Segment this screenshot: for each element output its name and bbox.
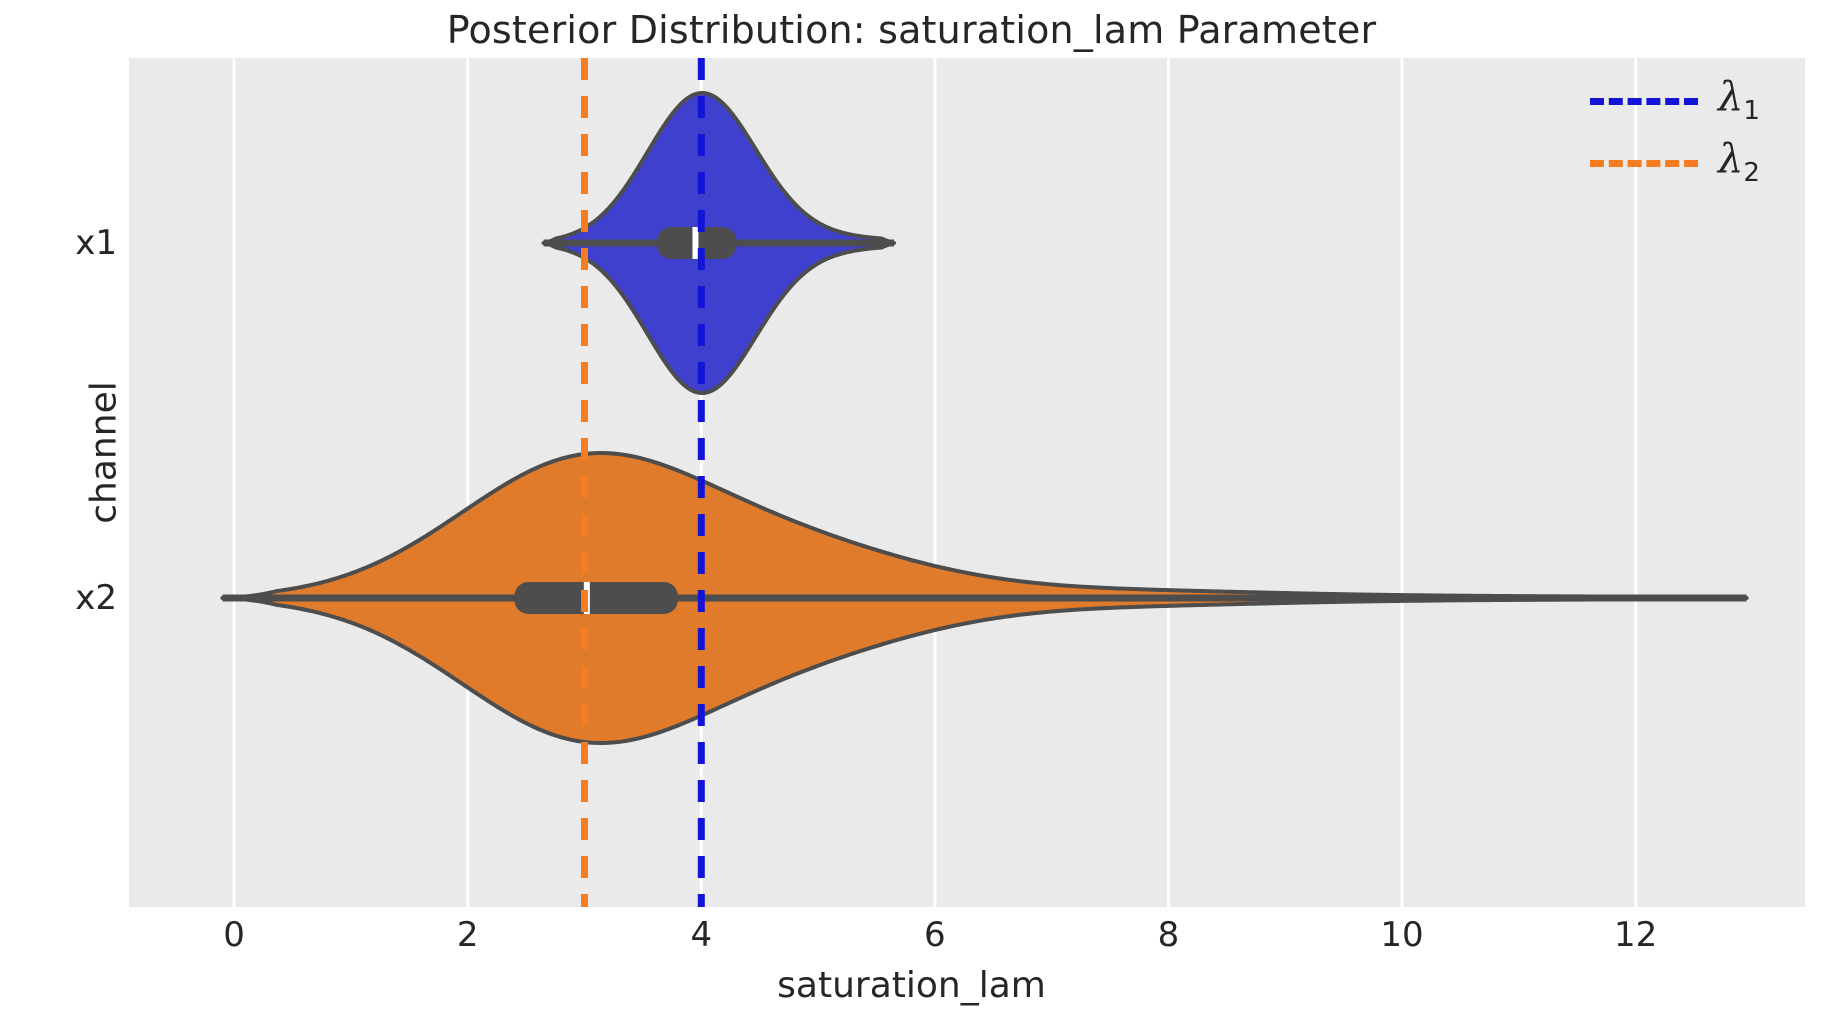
x-tick-label-6: 12	[1614, 915, 1657, 955]
legend-label-lambda-1: λ1	[1718, 74, 1760, 126]
violin-chart-figure: Posterior Distribution: saturation_lam P…	[0, 0, 1823, 1023]
page-title: Posterior Distribution: saturation_lam P…	[0, 8, 1823, 52]
x-tick-label-2: 4	[690, 915, 712, 955]
plot-area	[129, 58, 1805, 907]
x-tick-label-5: 10	[1380, 915, 1423, 955]
legend-label-lambda-2: λ2	[1718, 136, 1760, 188]
y-tick-label-x1: x1	[75, 223, 117, 263]
x-tick-label-4: 8	[1158, 915, 1180, 955]
legend-item-lambda-2[interactable]: λ2	[1590, 142, 1790, 188]
violin-x2	[222, 453, 1746, 743]
violin-x1	[544, 93, 894, 393]
x-tick-label-3: 6	[924, 915, 946, 955]
x-axis-label: saturation_lam	[0, 965, 1823, 1006]
iqr-box-x2	[514, 582, 678, 614]
plot-svg	[129, 58, 1805, 907]
y-axis-label: channel	[84, 323, 125, 583]
legend-swatch-lambda-2	[1590, 160, 1698, 167]
y-tick-label-x2: x2	[75, 578, 117, 618]
legend-item-lambda-1[interactable]: λ1	[1590, 80, 1790, 126]
x-tick-label-1: 2	[457, 915, 479, 955]
x-tick-label-0: 0	[223, 915, 245, 955]
legend-swatch-lambda-1	[1590, 98, 1698, 105]
legend: λ1 λ2	[1590, 80, 1790, 190]
